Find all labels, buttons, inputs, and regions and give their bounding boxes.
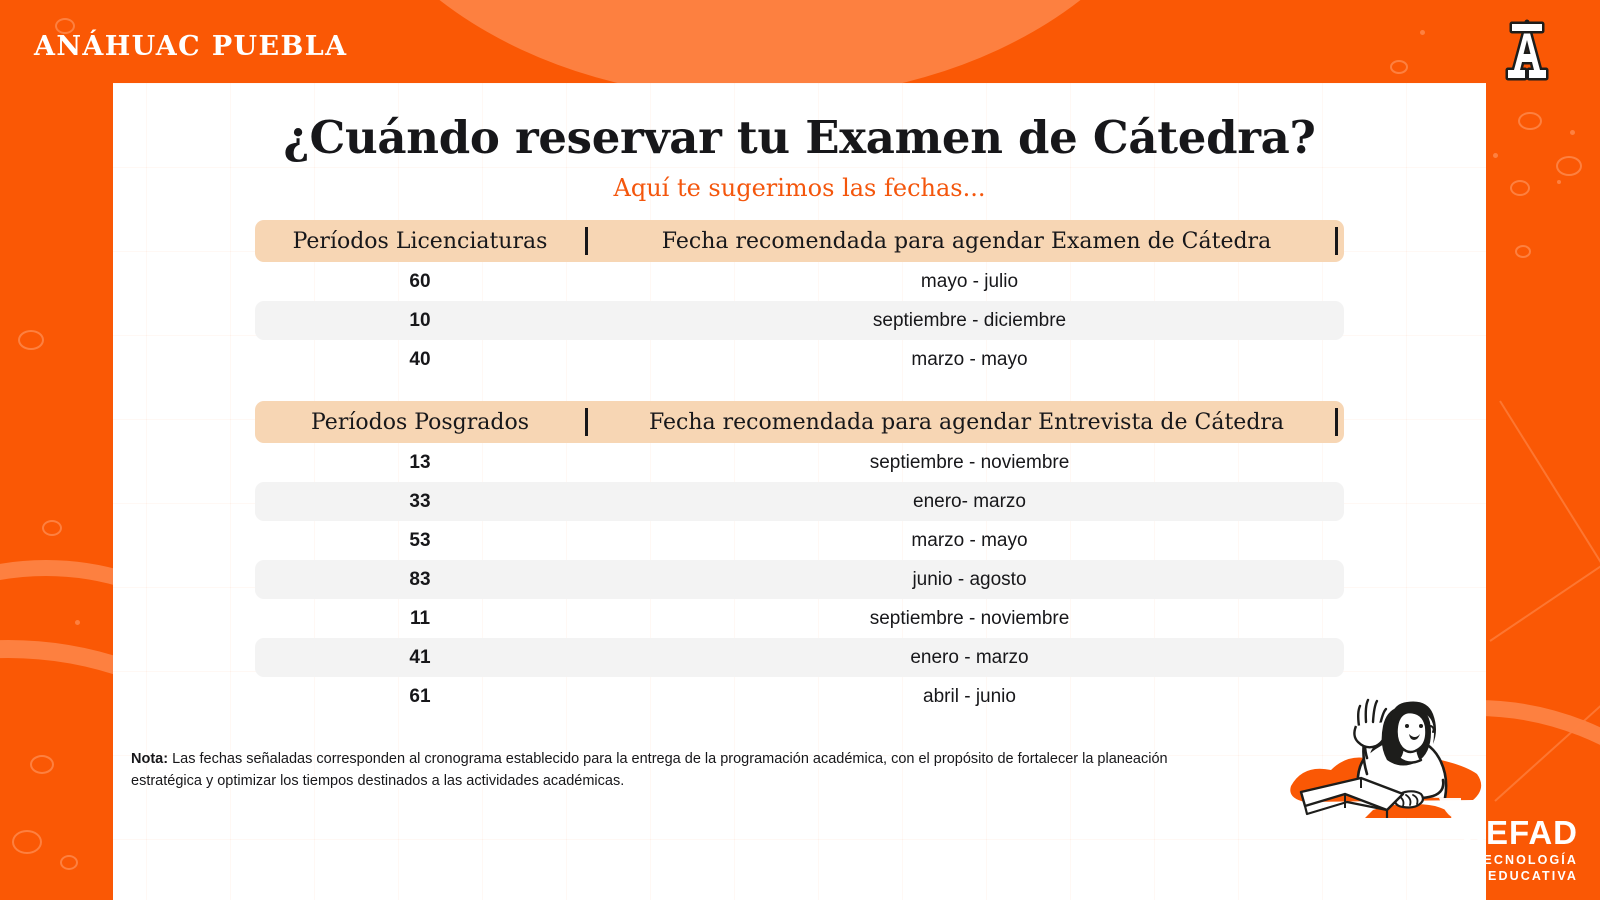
cell-periodo: 10	[255, 310, 585, 332]
table-posgrados-header-row: Períodos Posgrados Fecha recomendada par…	[255, 401, 1344, 443]
header-divider-end-icon	[1335, 408, 1338, 436]
anahuac-a-logo-icon	[1496, 18, 1558, 84]
cell-fecha: enero - marzo	[585, 647, 1344, 669]
bubble-4	[12, 830, 42, 854]
bubble-19	[75, 620, 80, 625]
table-posgrados: Períodos Posgrados Fecha recomendada par…	[255, 401, 1344, 716]
cefad-tagline-line2: EDUCATIVA	[1461, 870, 1578, 883]
diagonal-line-1	[1499, 400, 1600, 757]
note-block: Nota: Las fechas señaladas corresponden …	[131, 748, 1176, 793]
cell-periodo: 53	[255, 530, 585, 552]
table-row: 40 marzo - mayo	[255, 340, 1344, 379]
header-divider-end-icon	[1335, 227, 1338, 255]
bubble-3	[30, 755, 54, 774]
cell-fecha: marzo - mayo	[585, 530, 1344, 552]
bubble-2	[42, 520, 62, 536]
note-label: Nota:	[131, 751, 168, 767]
cell-fecha: junio - agosto	[585, 569, 1344, 591]
cell-periodo: 61	[255, 686, 585, 708]
cell-fecha: abril - junio	[585, 686, 1344, 708]
cell-periodo: 60	[255, 271, 585, 293]
cell-periodo: 41	[255, 647, 585, 669]
table-licenciaturas: Períodos Licenciaturas Fecha recomendada…	[255, 220, 1344, 379]
header-fecha-examen: Fecha recomendada para agendar Examen de…	[588, 229, 1335, 254]
table-row: 10 septiembre - diciembre	[255, 301, 1344, 340]
bubble-17	[1390, 60, 1408, 74]
bubble-5	[60, 855, 78, 870]
cefad-logo: CEFAD TECNOLOGÍA EDUCATIVA	[1461, 816, 1578, 882]
cell-fecha: mayo - julio	[585, 271, 1344, 293]
table-row: 83 junio - agosto	[255, 560, 1344, 599]
table-posgrados-body: 13 septiembre - noviembre 33 enero- marz…	[255, 443, 1344, 716]
cell-fecha: septiembre - noviembre	[585, 452, 1344, 474]
cell-periodo: 40	[255, 349, 585, 371]
brand-title: ANÁHUAC PUEBLA	[34, 31, 347, 62]
header-periodos-licenciaturas: Períodos Licenciaturas	[255, 229, 585, 254]
diagonal-line-3	[1494, 653, 1600, 802]
cell-fecha: enero- marzo	[585, 491, 1344, 513]
cell-periodo: 83	[255, 569, 585, 591]
cefad-tagline-line1: TECNOLOGÍA	[1461, 854, 1578, 867]
bubble-9	[1556, 156, 1582, 176]
table-row: 60 mayo - julio	[255, 262, 1344, 301]
cell-fecha: marzo - mayo	[585, 349, 1344, 371]
bubble-10	[1510, 180, 1530, 196]
table-row: 33 enero- marzo	[255, 482, 1344, 521]
bubble-11	[1515, 245, 1531, 258]
table-row: 61 abril - junio	[255, 677, 1344, 716]
cell-periodo: 11	[255, 608, 585, 630]
diagonal-line-2	[1489, 472, 1600, 641]
cefad-wordmark: CEFAD	[1461, 816, 1578, 849]
slide-root: ANÁHUAC PUEBLA ¿Cuándo reservar tu Exame…	[0, 0, 1600, 900]
bubble-12	[1493, 153, 1498, 158]
header-periodos-posgrados: Períodos Posgrados	[255, 410, 585, 435]
header-fecha-entrevista: Fecha recomendada para agendar Entrevist…	[588, 410, 1335, 435]
cell-periodo: 33	[255, 491, 585, 513]
table-row: 13 septiembre - noviembre	[255, 443, 1344, 482]
table-licenciaturas-body: 60 mayo - julio 10 septiembre - diciembr…	[255, 262, 1344, 379]
bubble-8	[1518, 112, 1542, 130]
table-row: 53 marzo - mayo	[255, 521, 1344, 560]
bubble-13	[1570, 130, 1575, 135]
content-card: ¿Cuándo reservar tu Examen de Cátedra? A…	[113, 83, 1486, 900]
bubble-1	[18, 330, 44, 350]
page-title: ¿Cuándo reservar tu Examen de Cátedra?	[113, 111, 1486, 164]
cefad-mark-icon	[1437, 796, 1463, 822]
cell-fecha: septiembre - diciembre	[585, 310, 1344, 332]
bubble-14	[1557, 180, 1561, 184]
table-row: 41 enero - marzo	[255, 638, 1344, 677]
cell-periodo: 13	[255, 452, 585, 474]
note-text: Las fechas señaladas corresponden al cro…	[131, 751, 1168, 789]
page-subtitle: Aquí te sugerimos las fechas...	[113, 174, 1486, 202]
cell-fecha: septiembre - noviembre	[585, 608, 1344, 630]
table-row: 11 septiembre - noviembre	[255, 599, 1344, 638]
table-licenciaturas-header-row: Períodos Licenciaturas Fecha recomendada…	[255, 220, 1344, 262]
bubble-16	[1420, 30, 1425, 35]
